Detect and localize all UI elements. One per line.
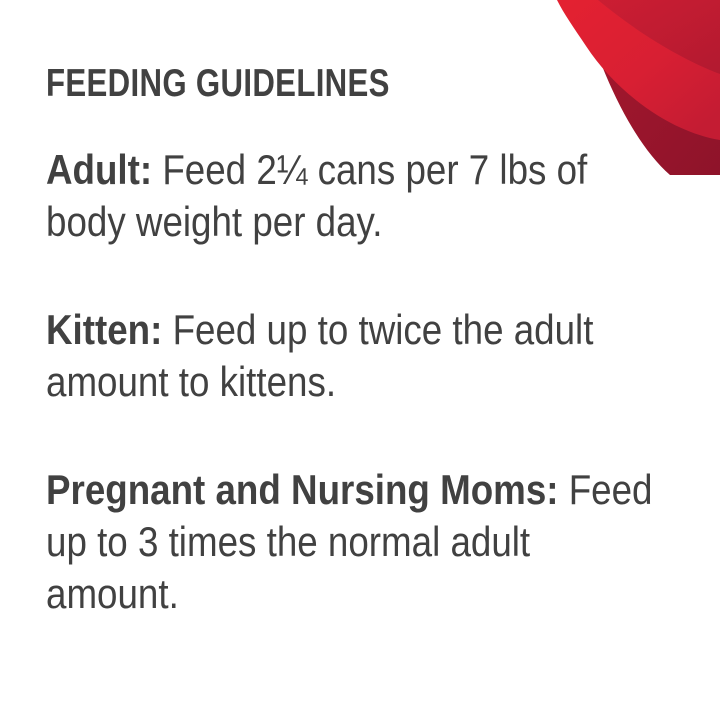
guideline-label-kitten: Kitten: xyxy=(46,306,162,353)
guidelines-content: FEEDING GUIDELINES Adult: Feed 2¼ cans p… xyxy=(46,64,670,620)
guideline-label-adult: Adult: xyxy=(46,146,152,193)
feeding-guidelines-panel: FEEDING GUIDELINES Adult: Feed 2¼ cans p… xyxy=(0,0,720,720)
guideline-label-pregnant-nursing: Pregnant and Nursing Moms: xyxy=(46,466,558,513)
page-title: FEEDING GUIDELINES xyxy=(46,64,545,104)
guideline-item-kitten: Kitten: Feed up to twice the adult amoun… xyxy=(46,304,667,408)
guideline-item-pregnant-nursing: Pregnant and Nursing Moms: Feed up to 3 … xyxy=(46,464,667,620)
guideline-item-adult: Adult: Feed 2¼ cans per 7 lbs of body we… xyxy=(46,144,667,248)
